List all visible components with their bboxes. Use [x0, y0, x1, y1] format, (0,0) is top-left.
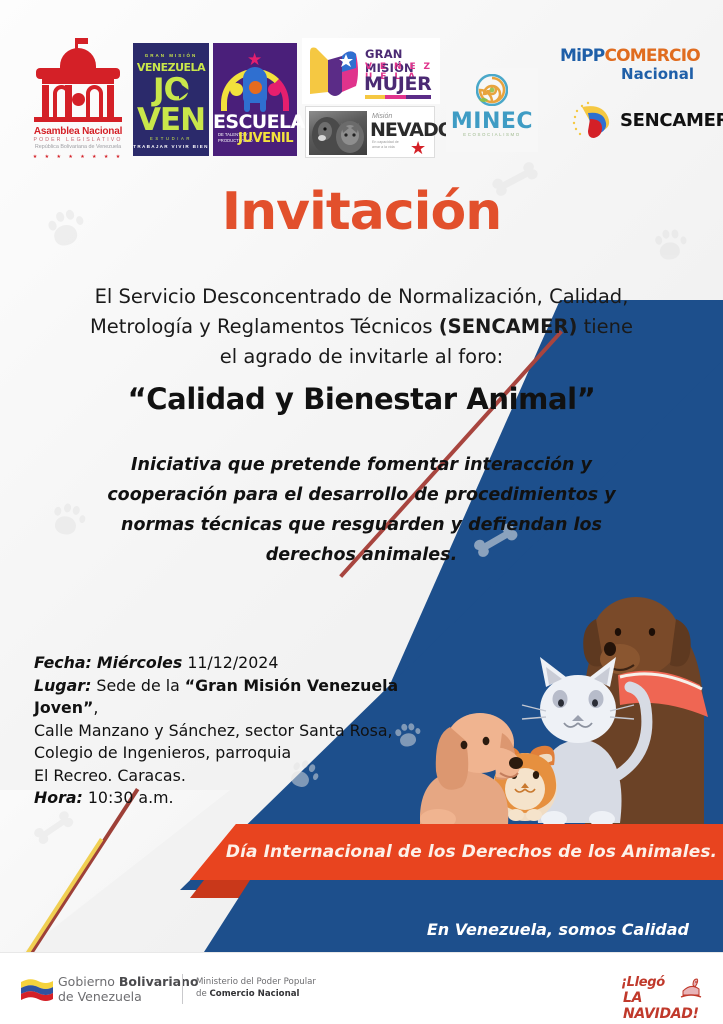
joven-top: GRAN MISIÓN: [133, 53, 209, 58]
logo-minec: MINEC ECOSOCIALISMO: [446, 68, 538, 152]
footer-bar: Gobierno Bolivariano de Venezuela Minist…: [0, 952, 723, 1024]
intro-paragraph: El Servicio Desconcentrado de Normalizac…: [86, 282, 637, 372]
logo-mision-nevado: Misión NEVADO En capacidad deamar a la v…: [305, 106, 435, 158]
animals-illustration: [420, 575, 723, 830]
comercio-word: COMERCIO: [604, 46, 699, 66]
detail-address-3: El Recreo. Caracas.: [34, 765, 454, 788]
fecha-value: 11/12/2024: [187, 653, 278, 672]
asamblea-subtitle: PODER LEGISLATIVO: [22, 137, 134, 143]
mipp-nacional: Nacional: [560, 65, 706, 83]
gov-line1-bold: Bolivariano: [119, 974, 199, 989]
hora-label: Hora:: [34, 788, 83, 807]
minec-spiral-icon: [476, 74, 508, 106]
mujer-line3: MUJER: [364, 73, 432, 95]
nevado-animal-photo: [309, 111, 367, 155]
sencamer-swirl-icon: [572, 101, 618, 143]
hora-value: 10:30 a.m.: [88, 788, 174, 807]
event-details: Fecha: Miércoles 11/12/2024 Lugar: Sede …: [34, 652, 454, 810]
asamblea-name: Asamblea Nacional: [22, 126, 134, 137]
escuela-leg-l: [244, 98, 250, 112]
government-label: Gobierno Bolivariano de Venezuela: [58, 975, 199, 1004]
page-title: Invitación: [0, 182, 723, 242]
joven-play-triangle: [179, 83, 190, 99]
lugar-post: ,: [93, 698, 98, 717]
gov-line2: de Venezuela: [58, 989, 142, 1004]
ministry-line1: Ministerio del Poder Popular: [196, 977, 316, 987]
mipp-word: MiPP: [560, 46, 604, 66]
detail-address-2: Colegio de Ingenieros, parroquia: [34, 742, 454, 765]
mujer-color-bar: [365, 95, 431, 99]
mujer-m-icon: [306, 42, 364, 100]
minec-name: MINEC: [446, 109, 538, 134]
joven-bottom1: ESTUDIAR: [133, 136, 209, 141]
detail-hora: Hora: 10:30 a.m.: [34, 787, 454, 810]
logo-mipp-comercio: MiPPCOMERCIO Nacional: [560, 46, 706, 90]
blue-banner-text: En Venezuela, somos Calidad: [427, 920, 723, 952]
navidad-line1: ¡Llegó: [621, 975, 665, 990]
venezuela-flag-icon: [20, 977, 54, 1001]
sencamer-name: SENCAMER: [620, 110, 723, 131]
description-paragraph: Iniciativa que pretende fomentar interac…: [96, 450, 627, 570]
logo-escuela-juvenil: ★ ESCUELA DE TALENTO YPRODUCTIVIDAD JUVE…: [213, 43, 297, 156]
joven-bottom2: TRABAJAR VIVIR BIEN: [133, 144, 209, 149]
detail-fecha: Fecha: Miércoles 11/12/2024: [34, 652, 454, 675]
intro-sencamer: (SENCAMER): [439, 315, 578, 338]
ministry-line2-pre: de: [196, 989, 209, 999]
fecha-label: Fecha:: [34, 653, 92, 672]
minec-sub: ECOSOCIALISMO: [446, 132, 538, 137]
fecha-day: Miércoles: [97, 653, 182, 672]
logo-asamblea-nacional: Asamblea Nacional PODER LEGISLATIVO Repú…: [22, 38, 134, 150]
lugar-label: Lugar:: [34, 676, 91, 695]
ministry-line2-bold: Comercio Nacional: [209, 989, 299, 999]
lugar-pre: Sede de la: [96, 676, 184, 695]
asamblea-stars: ★ ★ ★ ★ ★ ★ ★ ★: [22, 154, 134, 160]
escuela-line1: ESCUELA: [213, 111, 297, 133]
nevado-sub: En capacidad deamar a la vida: [372, 140, 399, 149]
orange-banner-text: Día Internacional de los Derechos de los…: [196, 842, 717, 862]
escuela-line2: JUVENIL: [238, 131, 293, 146]
gov-line1-light: Gobierno: [58, 974, 119, 989]
footer-divider: [182, 974, 183, 1004]
ministry-label: Ministerio del Poder Popular de Comercio…: [196, 977, 316, 1000]
invitation-poster: Asamblea Nacional PODER LEGISLATIVO Repú…: [0, 0, 723, 1024]
logo-sencamer: SENCAMER: [572, 98, 706, 146]
mipp-line1: MiPPCOMERCIO: [560, 46, 706, 66]
detail-address-1: Calle Manzano y Sánchez, sector Santa Ro…: [34, 720, 454, 743]
escuela-star-icon: ★: [247, 51, 262, 68]
nevado-star-icon: ★: [410, 139, 426, 157]
asamblea-country: República Bolivariana de Venezuela: [22, 144, 134, 150]
escuela-leg-r: [260, 98, 266, 112]
detail-lugar: Lugar: Sede de la “Gran Misión Venezuela…: [34, 675, 454, 720]
logo-venezuela-joven: GRAN MISIÓN VENEZUELA JO VEN ESTUDIAR TR…: [133, 43, 209, 156]
paw-print-icon: [49, 499, 91, 541]
forum-title: “Calidad y Bienestar Animal”: [0, 382, 723, 416]
blue-banner: En Venezuela, somos Calidad: [204, 880, 723, 952]
joven-jo: JO: [133, 75, 209, 105]
rocking-horse-icon: [677, 973, 705, 1001]
navidad-logo: ¡Llegó LA NAVIDAD!: [619, 971, 707, 1013]
logo-venezuela-mujer: GRAN MISIÓN V E N E Z U E L A MUJER: [302, 38, 440, 104]
joven-ven: VEN: [133, 105, 209, 135]
orange-banner: Día Internacional de los Derechos de los…: [190, 824, 723, 880]
logo-strip: Asamblea Nacional PODER LEGISLATIVO Repú…: [0, 16, 723, 146]
